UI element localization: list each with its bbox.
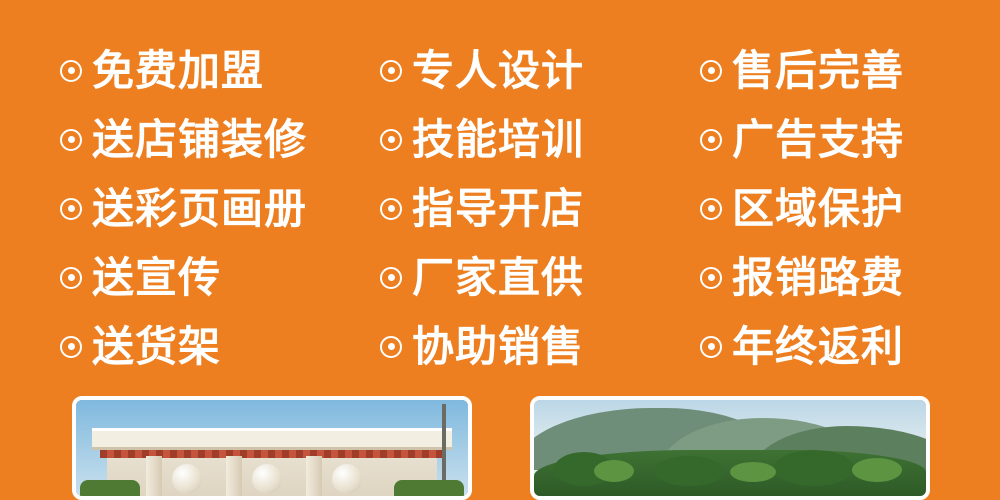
photo-pillar xyxy=(226,456,242,496)
photo-pillar xyxy=(146,456,162,496)
benefits-grid: 免费加盟 专人设计 售后完善 送店铺装修 技能培训 广告支持 送彩页画册 xyxy=(60,36,960,381)
circle-dot-icon xyxy=(60,198,82,220)
benefit-item-3-2: 广告支持 xyxy=(700,119,960,161)
benefit-label: 年终返利 xyxy=(732,326,904,368)
circle-dot-icon xyxy=(700,129,722,151)
benefit-label: 售后完善 xyxy=(732,50,904,92)
benefit-item-2-1: 专人设计 xyxy=(380,50,700,92)
photo-cornice xyxy=(92,428,453,447)
benefit-label: 免费加盟 xyxy=(92,50,264,92)
benefit-item-3-3: 区域保护 xyxy=(700,188,960,230)
promo-poster: 免费加盟 专人设计 售后完善 送店铺装修 技能培训 广告支持 送彩页画册 xyxy=(0,0,1000,500)
photo-ornament xyxy=(172,464,202,494)
benefit-label: 报销路费 xyxy=(732,257,904,299)
benefit-label: 送货架 xyxy=(92,326,221,368)
photo-tree-canopy xyxy=(654,456,724,486)
photo-tree-highlight xyxy=(730,462,776,482)
storefront-building-photo xyxy=(72,396,472,500)
benefit-label: 协助销售 xyxy=(412,326,584,368)
benefit-label: 指导开店 xyxy=(412,188,584,230)
circle-dot-icon xyxy=(380,198,402,220)
mountain-landscape-photo xyxy=(530,396,930,500)
photo-ornament xyxy=(252,464,282,494)
benefit-item-3-5: 年终返利 xyxy=(700,326,960,368)
benefit-item-3-4: 报销路费 xyxy=(700,257,960,299)
photo-tree-canopy xyxy=(774,450,854,486)
benefit-item-3-1: 售后完善 xyxy=(700,50,960,92)
benefit-item-2-4: 厂家直供 xyxy=(380,257,700,299)
benefit-label: 专人设计 xyxy=(412,50,584,92)
circle-dot-icon xyxy=(60,336,82,358)
benefit-label: 区域保护 xyxy=(732,188,904,230)
circle-dot-icon xyxy=(700,60,722,82)
photo-tree-highlight xyxy=(594,460,634,482)
benefit-label: 送彩页画册 xyxy=(92,188,307,230)
benefit-item-2-2: 技能培训 xyxy=(380,119,700,161)
circle-dot-icon xyxy=(380,60,402,82)
photo-bush xyxy=(80,480,140,496)
circle-dot-icon xyxy=(700,267,722,289)
benefit-item-1-3: 送彩页画册 xyxy=(60,188,380,230)
benefit-label: 送宣传 xyxy=(92,257,221,299)
circle-dot-icon xyxy=(700,198,722,220)
benefit-label: 技能培训 xyxy=(412,119,584,161)
benefit-label: 广告支持 xyxy=(732,119,904,161)
benefit-item-1-5: 送货架 xyxy=(60,326,380,368)
benefit-label: 厂家直供 xyxy=(412,257,584,299)
circle-dot-icon xyxy=(60,267,82,289)
benefit-label: 送店铺装修 xyxy=(92,119,307,161)
benefit-item-1-2: 送店铺装修 xyxy=(60,119,380,161)
circle-dot-icon xyxy=(380,336,402,358)
benefit-item-1-1: 免费加盟 xyxy=(60,50,380,92)
benefit-item-1-4: 送宣传 xyxy=(60,257,380,299)
circle-dot-icon xyxy=(380,129,402,151)
circle-dot-icon xyxy=(60,129,82,151)
photo-strip xyxy=(0,396,1000,500)
photo-tree-highlight xyxy=(852,458,902,482)
photo-bush xyxy=(394,480,464,496)
circle-dot-icon xyxy=(700,336,722,358)
circle-dot-icon xyxy=(380,267,402,289)
benefit-item-2-5: 协助销售 xyxy=(380,326,700,368)
photo-ornament xyxy=(332,464,362,494)
circle-dot-icon xyxy=(60,60,82,82)
photo-pillar xyxy=(306,456,322,496)
benefit-item-2-3: 指导开店 xyxy=(380,188,700,230)
